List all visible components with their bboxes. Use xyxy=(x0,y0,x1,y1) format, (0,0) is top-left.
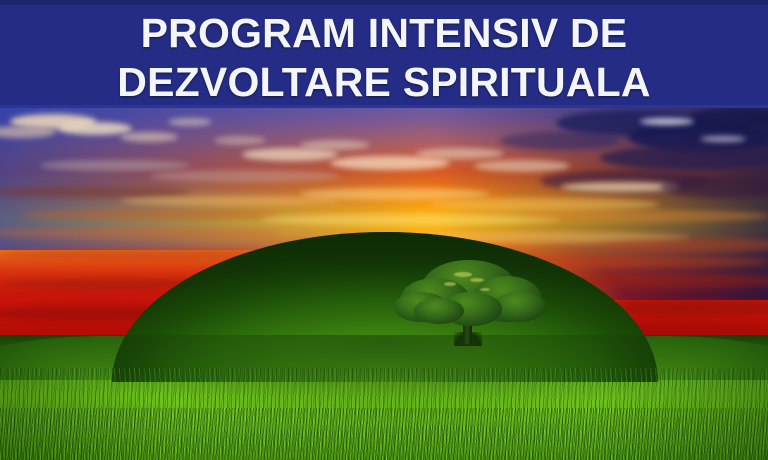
cloud xyxy=(520,210,768,222)
cloud xyxy=(40,160,190,171)
banner-bottom-edge xyxy=(0,105,768,108)
cloud xyxy=(260,214,560,225)
cloud xyxy=(168,118,212,126)
cloud xyxy=(300,188,490,200)
canopy-highlight xyxy=(444,282,456,286)
canopy-highlight xyxy=(470,278,484,282)
storm-cloud xyxy=(600,146,768,170)
ground-vignette xyxy=(0,335,768,460)
cloud xyxy=(120,132,178,142)
cloud xyxy=(242,148,338,161)
cloud xyxy=(330,156,450,170)
title-line-2: DEZVOLTARE SPIRITUALA xyxy=(0,62,768,103)
storm-cloud xyxy=(688,108,768,128)
cloud xyxy=(700,136,746,142)
banner-top-edge xyxy=(0,0,768,5)
cloud xyxy=(300,140,370,150)
cloud xyxy=(58,122,132,135)
title-banner: PROGRAM INTENSIV DE DEZVOLTARE SPIRITUAL… xyxy=(0,0,768,108)
cloud xyxy=(474,160,570,172)
title-line-1: PROGRAM INTENSIV DE xyxy=(0,13,768,54)
cloud xyxy=(120,196,340,206)
canopy-highlight xyxy=(480,288,490,291)
tree-canopy xyxy=(414,298,464,324)
tree xyxy=(396,258,544,344)
cloud xyxy=(640,118,694,125)
cloud xyxy=(150,170,340,182)
canopy-highlight xyxy=(454,272,472,277)
cloud xyxy=(20,210,280,220)
storm-cloud xyxy=(500,132,620,150)
cloud xyxy=(214,136,266,145)
cloud xyxy=(416,148,504,159)
cloud xyxy=(430,198,660,211)
poster-image: PROGRAM INTENSIV DE DEZVOLTARE SPIRITUAL… xyxy=(0,0,768,460)
